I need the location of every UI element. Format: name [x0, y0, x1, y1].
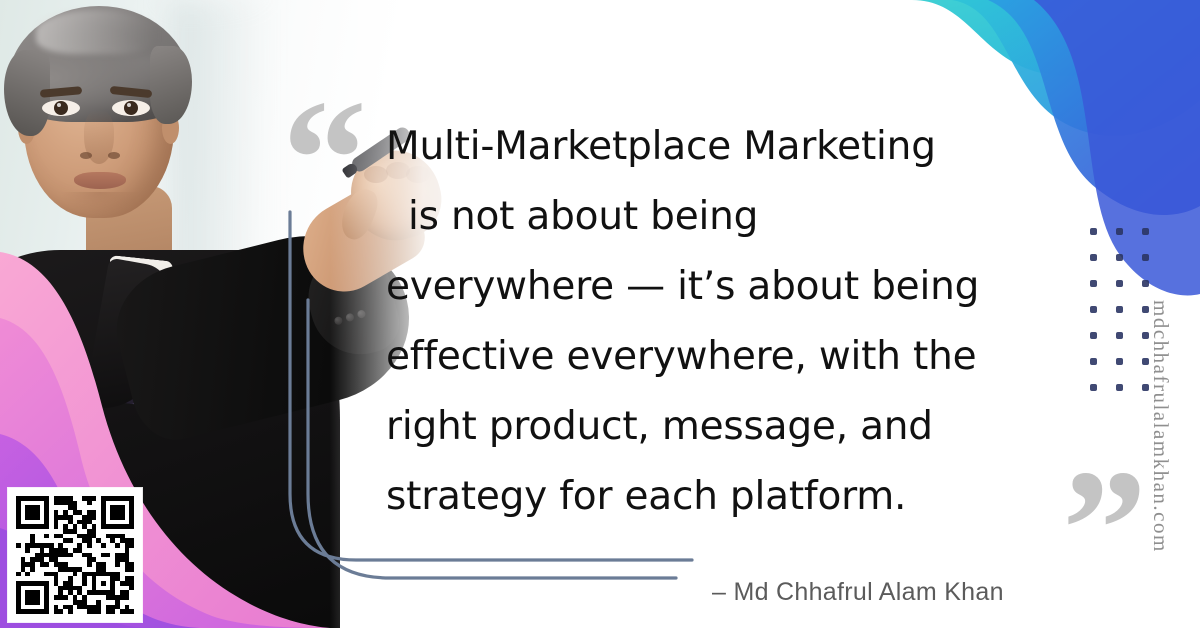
- quote-line: effective everywhere, with the: [386, 322, 1076, 392]
- pupil-left: [54, 101, 68, 115]
- eye-right: [112, 100, 150, 116]
- website-url: mdchhafrulalamkhan.com: [1148, 300, 1173, 553]
- quote-card: “ ” Multi-Marketplace Marketing is not a…: [0, 0, 1200, 628]
- qr-code[interactable]: [8, 488, 142, 622]
- qr-code-matrix: [16, 496, 134, 614]
- quote-open-mark: “: [282, 74, 371, 244]
- nostril-right: [108, 152, 120, 159]
- quote-line: is not about being: [386, 182, 1076, 252]
- eye-left: [42, 100, 80, 116]
- hair-highlight: [36, 10, 156, 54]
- quote-line: Multi-Marketplace Marketing: [386, 112, 1076, 182]
- quote-attribution: – Md Chhafrul Alam Khan: [712, 578, 1004, 607]
- quote-line: right product, message, and: [386, 392, 1076, 462]
- pupil-right: [124, 101, 138, 115]
- quote-line: everywhere — it’s about being: [386, 252, 1076, 322]
- nostril-left: [80, 152, 92, 159]
- mouth: [74, 172, 126, 189]
- quote-text-block: Multi-Marketplace Marketing is not about…: [386, 112, 1076, 532]
- quote-line: strategy for each platform.: [386, 462, 1076, 532]
